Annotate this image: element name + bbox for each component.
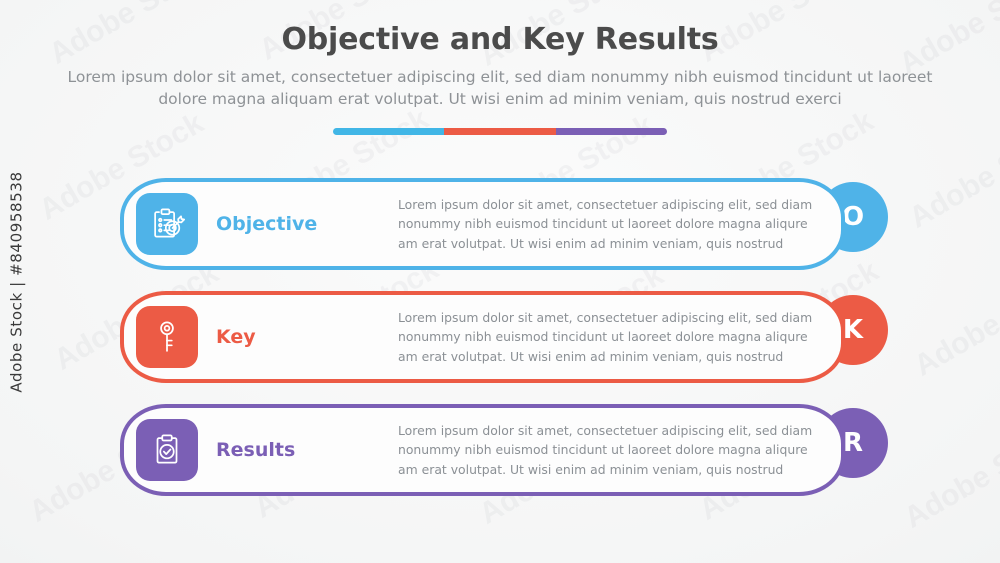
infographic-canvas: Adobe Stock Adobe Stock Adobe Stock Adob… [0,0,1000,563]
divider-segment-2 [444,128,555,135]
icon-tile-results [136,419,198,481]
badge-letter: O [842,202,864,232]
icon-tile-key [136,306,198,368]
card-results[interactable]: Results Lorem ipsum dolor sit amet, cons… [120,404,845,496]
row-results: R Results Lorem ipsum dolor sit amet, co… [0,404,1000,500]
accent-divider [333,128,667,135]
divider-segment-1 [333,128,444,135]
clipboard-check-icon [148,431,186,469]
page-subtitle: Lorem ipsum dolor sit amet, consectetuer… [65,66,935,110]
row-objective: O Object [0,178,1000,274]
header: Objective and Key Results Lorem ipsum do… [0,22,1000,110]
icon-tile-objective [136,193,198,255]
badge-letter: K [843,315,863,345]
card-key[interactable]: Key Lorem ipsum dolor sit amet, consecte… [120,291,845,383]
divider-segment-3 [556,128,667,135]
row-body-objective: Lorem ipsum dolor sit amet, consectetuer… [398,195,841,253]
rows-container: O Object [0,178,1000,517]
card-objective[interactable]: Objective Lorem ipsum dolor sit amet, co… [120,178,845,270]
row-heading-results: Results [216,439,398,461]
key-icon [148,318,186,356]
row-key: K Key Lorem ipsum dolor sit amet, consec… [0,291,1000,387]
page-title: Objective and Key Results [0,22,1000,57]
row-body-results: Lorem ipsum dolor sit amet, consectetuer… [398,421,841,479]
badge-letter: R [843,428,863,458]
row-body-key: Lorem ipsum dolor sit amet, consectetuer… [398,308,841,366]
row-heading-key: Key [216,326,398,348]
clipboard-target-icon [148,205,186,243]
row-heading-objective: Objective [216,213,398,235]
